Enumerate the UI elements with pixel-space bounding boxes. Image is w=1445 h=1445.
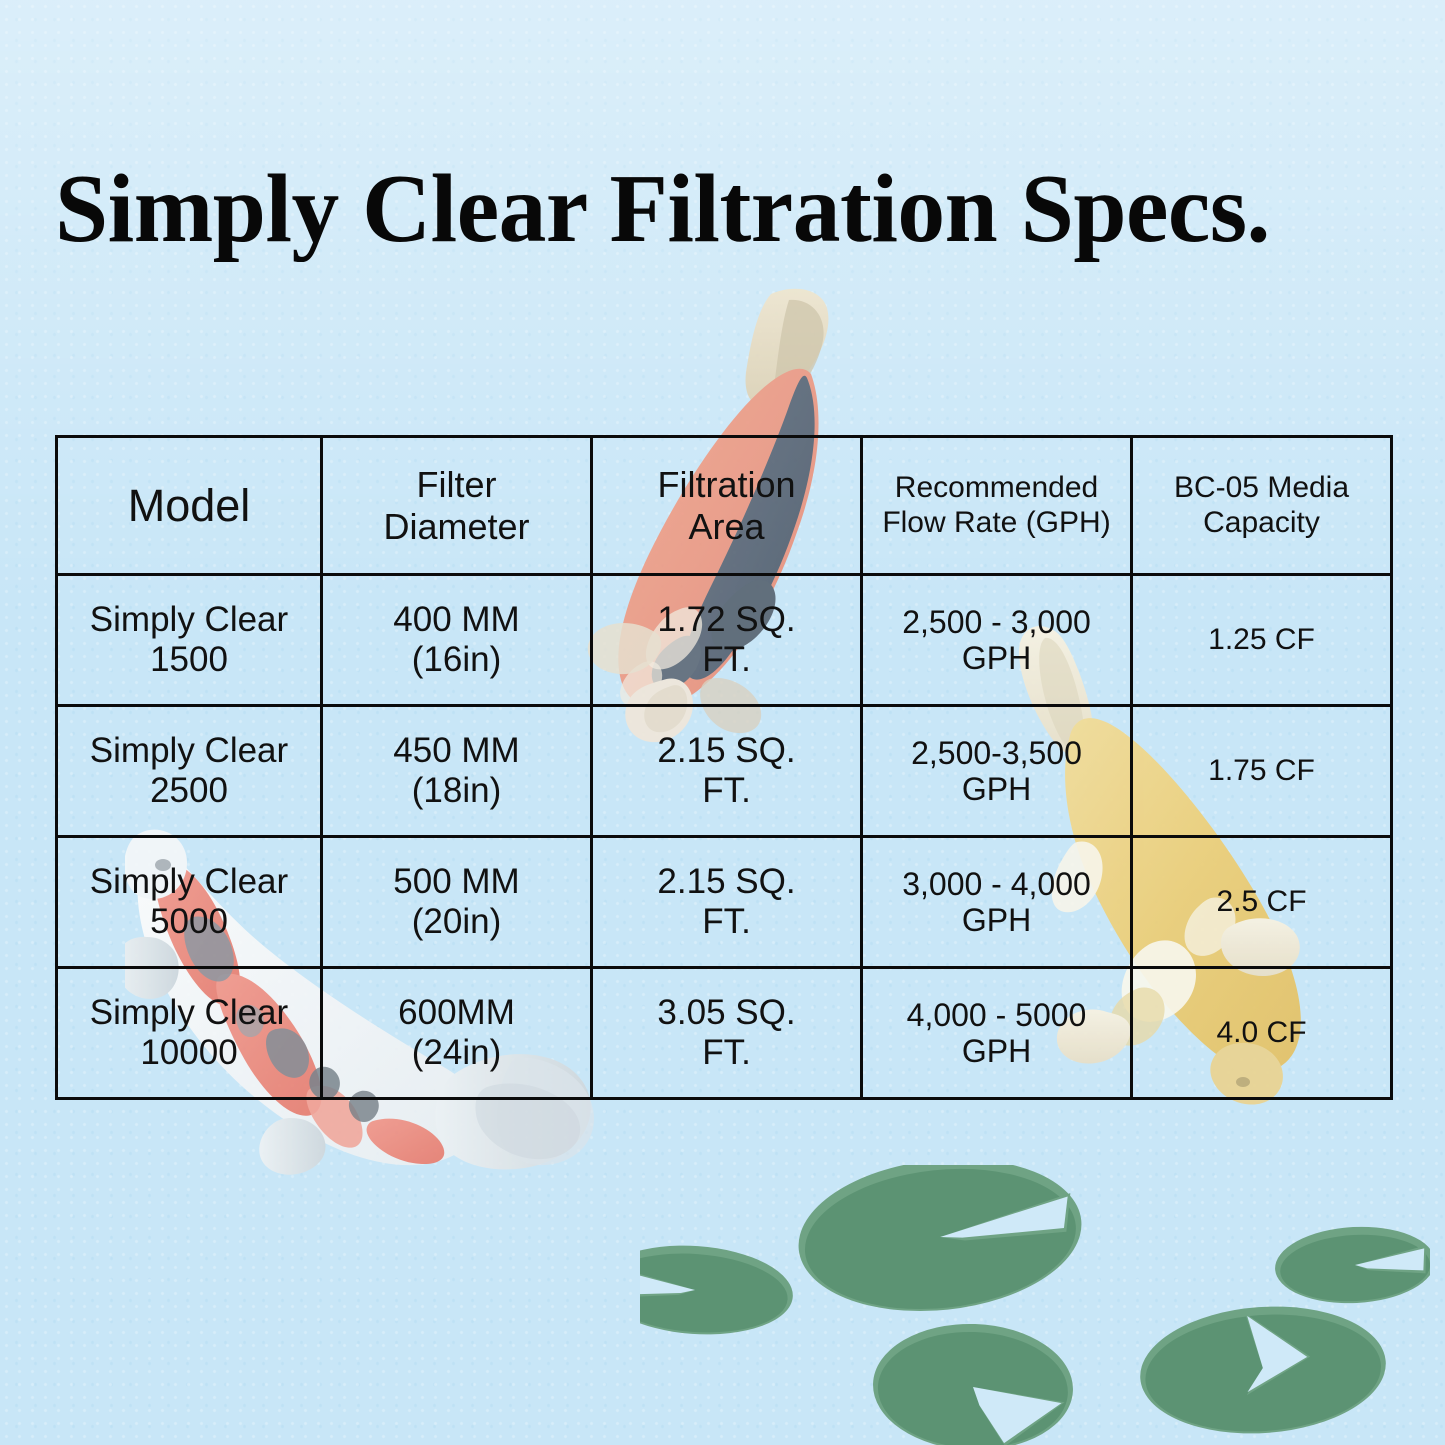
cell-area: 3.05 SQ. FT. bbox=[592, 968, 862, 1099]
column-header-filter-diameter-line1: Filter bbox=[329, 464, 584, 505]
table-row: Simply Clear 2500 450 MM (18in) 2.15 SQ.… bbox=[57, 706, 1392, 837]
column-header-media-capacity-line1: BC-05 Media bbox=[1139, 471, 1384, 505]
column-header-filter-diameter: Filter Diameter bbox=[322, 437, 592, 575]
cell-area-line1: 1.72 SQ. bbox=[599, 600, 854, 640]
table-body: Simply Clear 1500 400 MM (16in) 1.72 SQ.… bbox=[57, 575, 1392, 1099]
cell-model-line1: Simply Clear bbox=[64, 600, 314, 640]
column-header-filtration-area-line2: Area bbox=[599, 506, 854, 547]
cell-model-line1: Simply Clear bbox=[64, 731, 314, 771]
column-header-filtration-area-line1: Filtration bbox=[599, 464, 854, 505]
cell-diameter-line1: 500 MM bbox=[329, 862, 584, 902]
lily-pad-group bbox=[640, 1165, 1430, 1445]
column-header-flow-rate: Recommended Flow Rate (GPH) bbox=[862, 437, 1132, 575]
cell-area: 1.72 SQ. FT. bbox=[592, 575, 862, 706]
column-header-model: Model bbox=[57, 437, 322, 575]
cell-flow-rate: 3,000 - 4,000 GPH bbox=[862, 837, 1132, 968]
cell-flow-rate-line1: 3,000 - 4,000 bbox=[869, 866, 1124, 902]
column-header-media-capacity: BC-05 Media Capacity bbox=[1132, 437, 1392, 575]
cell-flow-rate-line2: GPH bbox=[869, 640, 1124, 676]
cell-diameter-line1: 400 MM bbox=[329, 600, 584, 640]
cell-model-line2: 5000 bbox=[64, 902, 314, 942]
poster-canvas: Simply Clear Filtration Specs. Model Fil… bbox=[0, 0, 1445, 1445]
cell-area-line1: 3.05 SQ. bbox=[599, 993, 854, 1033]
table-row: Simply Clear 5000 500 MM (20in) 2.15 SQ.… bbox=[57, 837, 1392, 968]
cell-model: Simply Clear 10000 bbox=[57, 968, 322, 1099]
cell-model: Simply Clear 1500 bbox=[57, 575, 322, 706]
cell-diameter: 450 MM (18in) bbox=[322, 706, 592, 837]
cell-area-line2: FT. bbox=[599, 640, 854, 680]
lily-pad-icon bbox=[640, 1165, 1430, 1445]
cell-area: 2.15 SQ. FT. bbox=[592, 837, 862, 968]
cell-diameter-line1: 600MM bbox=[329, 993, 584, 1033]
cell-diameter: 500 MM (20in) bbox=[322, 837, 592, 968]
cell-area-line2: FT. bbox=[599, 902, 854, 942]
column-header-media-capacity-line2: Capacity bbox=[1139, 506, 1384, 540]
cell-model-line1: Simply Clear bbox=[64, 862, 314, 902]
cell-model: Simply Clear 2500 bbox=[57, 706, 322, 837]
cell-model-line2: 1500 bbox=[64, 640, 314, 680]
table-row: Simply Clear 10000 600MM (24in) 3.05 SQ.… bbox=[57, 968, 1392, 1099]
cell-area-line1: 2.15 SQ. bbox=[599, 862, 854, 902]
cell-diameter-line2: (18in) bbox=[329, 771, 584, 811]
cell-diameter-line2: (16in) bbox=[329, 640, 584, 680]
cell-diameter: 600MM (24in) bbox=[322, 968, 592, 1099]
cell-flow-rate: 2,500-3,500 GPH bbox=[862, 706, 1132, 837]
cell-area: 2.15 SQ. FT. bbox=[592, 706, 862, 837]
page-title: Simply Clear Filtration Specs. bbox=[55, 160, 1375, 259]
cell-flow-rate-line2: GPH bbox=[869, 902, 1124, 938]
cell-model-line1: Simply Clear bbox=[64, 993, 314, 1033]
cell-model-line2: 2500 bbox=[64, 771, 314, 811]
cell-flow-rate-line2: GPH bbox=[869, 771, 1124, 807]
cell-diameter-line2: (20in) bbox=[329, 902, 584, 942]
column-header-flow-rate-line2: Flow Rate (GPH) bbox=[869, 506, 1124, 540]
table-header-row: Model Filter Diameter Filtration Area Re… bbox=[57, 437, 1392, 575]
cell-area-line2: FT. bbox=[599, 771, 854, 811]
table-row: Simply Clear 1500 400 MM (16in) 1.72 SQ.… bbox=[57, 575, 1392, 706]
cell-model-line2: 10000 bbox=[64, 1033, 314, 1073]
cell-diameter: 400 MM (16in) bbox=[322, 575, 592, 706]
cell-media-capacity: 2.5 CF bbox=[1132, 837, 1392, 968]
cell-media-capacity: 1.25 CF bbox=[1132, 575, 1392, 706]
column-header-filtration-area: Filtration Area bbox=[592, 437, 862, 575]
column-header-flow-rate-line1: Recommended bbox=[869, 471, 1124, 505]
cell-flow-rate-line1: 2,500-3,500 bbox=[869, 735, 1124, 771]
column-header-model-line1: Model bbox=[64, 480, 314, 531]
filtration-specs-table: Model Filter Diameter Filtration Area Re… bbox=[55, 435, 1393, 1100]
table-header: Model Filter Diameter Filtration Area Re… bbox=[57, 437, 1392, 575]
cell-flow-rate: 2,500 - 3,000 GPH bbox=[862, 575, 1132, 706]
cell-diameter-line2: (24in) bbox=[329, 1033, 584, 1073]
cell-media-capacity: 4.0 CF bbox=[1132, 968, 1392, 1099]
cell-flow-rate: 4,000 - 5000 GPH bbox=[862, 968, 1132, 1099]
cell-flow-rate-line2: GPH bbox=[869, 1033, 1124, 1069]
cell-media-capacity: 1.75 CF bbox=[1132, 706, 1392, 837]
cell-diameter-line1: 450 MM bbox=[329, 731, 584, 771]
cell-flow-rate-line1: 4,000 - 5000 bbox=[869, 997, 1124, 1033]
cell-area-line2: FT. bbox=[599, 1033, 854, 1073]
cell-model: Simply Clear 5000 bbox=[57, 837, 322, 968]
cell-area-line1: 2.15 SQ. bbox=[599, 731, 854, 771]
cell-flow-rate-line1: 2,500 - 3,000 bbox=[869, 604, 1124, 640]
column-header-filter-diameter-line2: Diameter bbox=[329, 506, 584, 547]
